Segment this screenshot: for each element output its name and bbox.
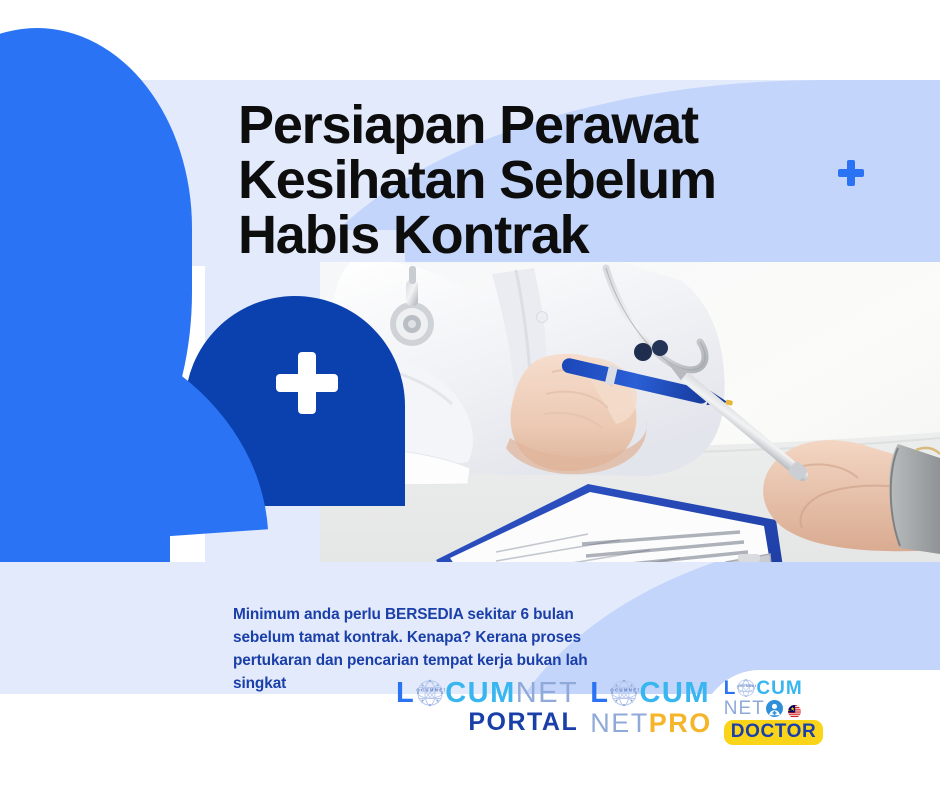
globe-label: LOCUMNET	[736, 684, 756, 688]
hero-photo	[320, 262, 940, 600]
globe-icon: LOCUMNET	[415, 678, 445, 708]
page-title: Persiapan Perawat Kesihatan Sebelum Habi…	[238, 98, 838, 263]
logo1-portal-text: PORTAL	[468, 710, 578, 735]
globe-icon: LOCUMNET	[609, 678, 639, 708]
logo-locumnet-pro[interactable]: L	[590, 678, 712, 737]
locumnet-pro-wordmark-row1: L	[590, 678, 712, 708]
logo-locumnet-doctor[interactable]: L LOCUMNET	[724, 678, 824, 745]
plus-icon-small	[838, 160, 864, 186]
logo2-letters-cum: CUM	[639, 679, 710, 708]
locumnet-portal-wordmark-row1: L	[396, 678, 578, 708]
locumnet-pro-wordmark-row2: NET PRO	[590, 710, 712, 737]
logo2-letters-net: NET	[590, 710, 649, 737]
globe-label: LOCUMNET	[609, 688, 639, 693]
logo1-letter-l: L	[396, 679, 415, 708]
locumnet-doctor-wordmark-row2: NET	[724, 699, 824, 718]
navy-dome-foot	[185, 440, 405, 506]
globe-icon: LOCUMNET	[736, 678, 756, 698]
globe-label: LOCUMNET	[415, 688, 445, 693]
logo-locumnet-portal[interactable]: L	[396, 678, 578, 735]
poster-canvas: Persiapan Perawat Kesihatan Sebelum Habi…	[0, 0, 940, 788]
logo1-letters-net: NET	[516, 679, 579, 708]
logo1-letters-cum: CUM	[445, 679, 516, 708]
malaysia-flag-icon	[785, 703, 804, 716]
blue-blob-swoosh	[0, 290, 268, 550]
logo2-pro-text: PRO	[649, 710, 712, 737]
blue-blob-lower	[0, 330, 170, 788]
doctor-avatar-icon	[766, 700, 783, 717]
logo3-letters-cum: CUM	[756, 679, 802, 698]
locumnet-doctor-wordmark-row1: L LOCUMNET	[724, 678, 824, 698]
logo3-letters-net: NET	[724, 699, 765, 718]
blue-blob-upper	[0, 28, 192, 508]
logo3-letter-l: L	[724, 679, 737, 698]
logo2-letter-l: L	[590, 679, 609, 708]
locumnet-portal-wordmark-row2: PORTAL	[396, 710, 578, 735]
logo3-doctor-pill: DOCTOR	[724, 720, 824, 745]
logo-row: L	[396, 678, 896, 748]
locumnet-doctor-wordmark-row3: DOCTOR	[724, 720, 824, 745]
plus-icon-large	[276, 352, 338, 414]
